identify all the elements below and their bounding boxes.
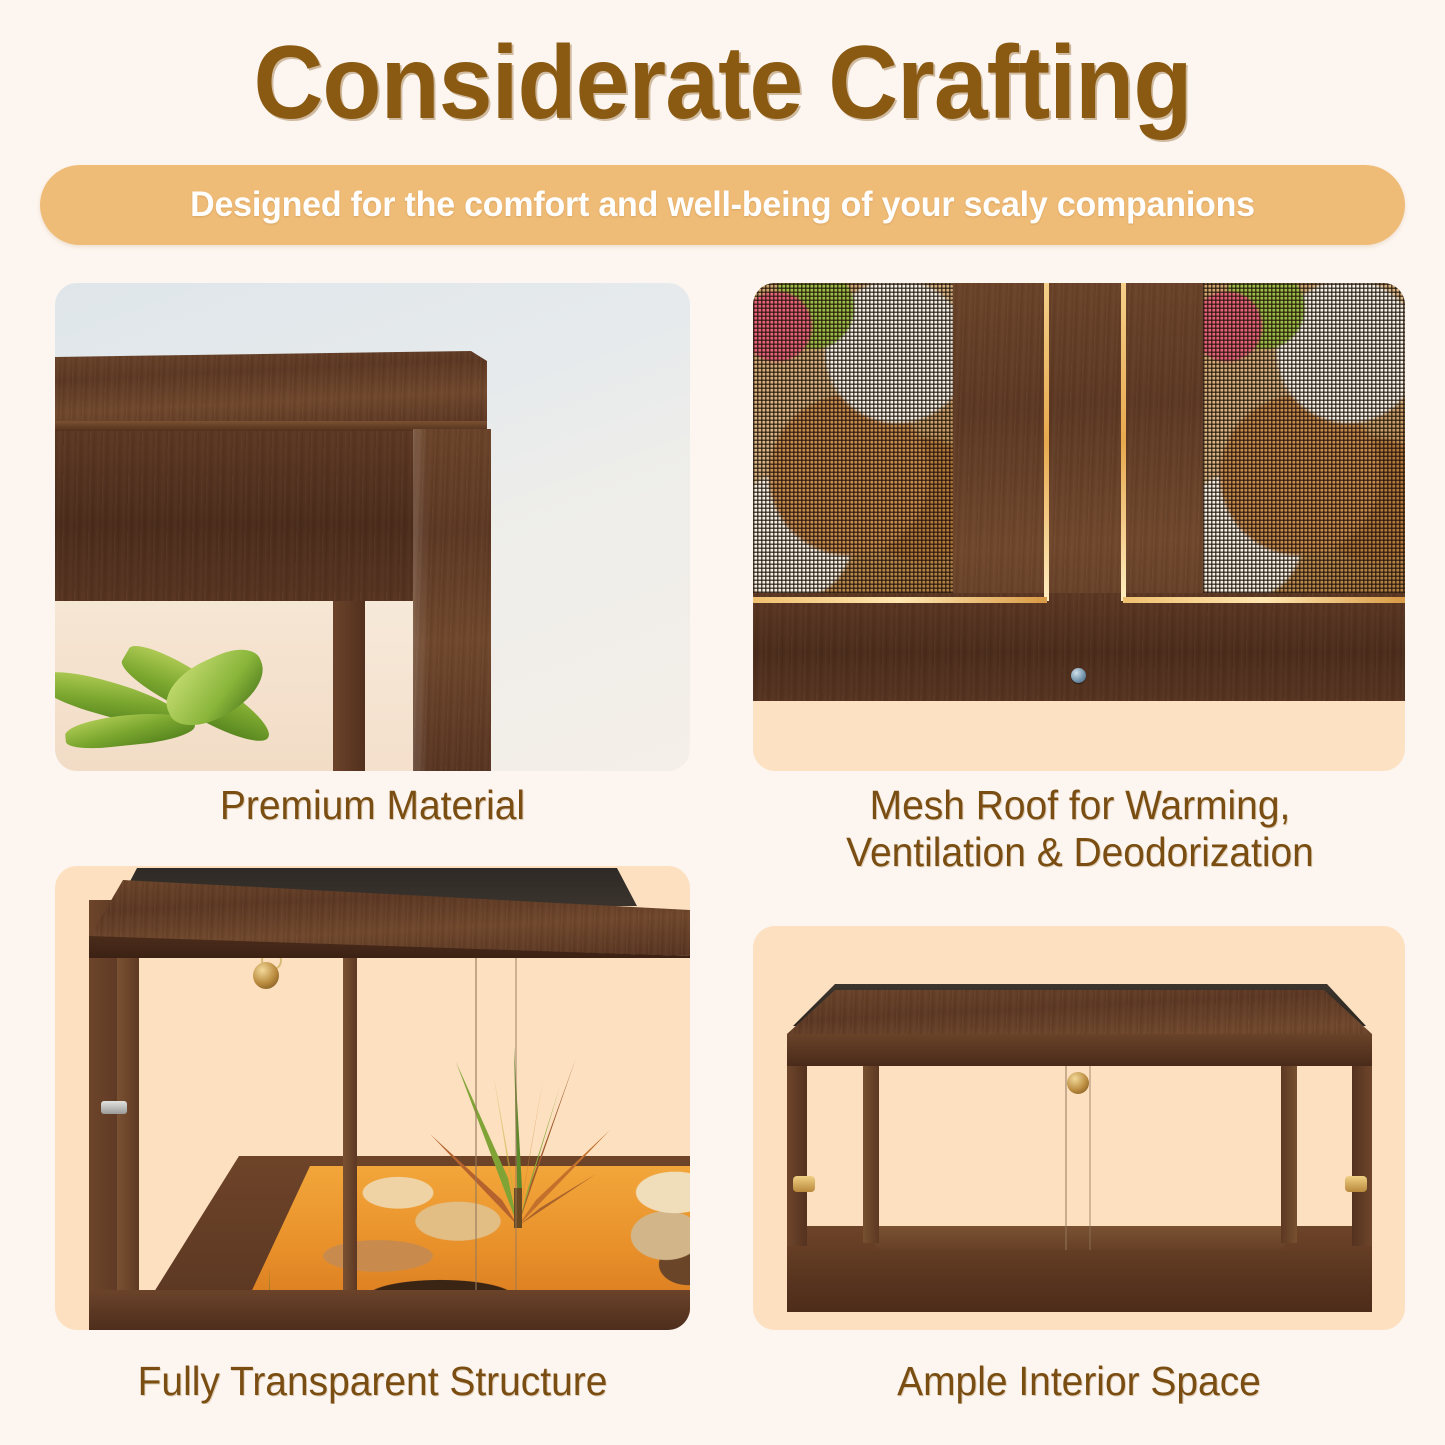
- terrarium-floor-inner: [863, 1226, 1297, 1250]
- glass-door-edge: [475, 944, 477, 1316]
- wood-bottom-rail: [89, 1290, 690, 1330]
- gold-edge-line: [1123, 597, 1405, 603]
- rock-decoration: [620, 1166, 690, 1286]
- caption-premium-material: Premium Material: [71, 782, 674, 829]
- feature-image-ample-interior-space: [753, 926, 1405, 1330]
- wood-right-post: [1352, 1056, 1372, 1246]
- caption-fully-transparent-structure: Fully Transparent Structure: [71, 1358, 674, 1405]
- wood-inner-left-post: [863, 1058, 879, 1243]
- post-highlight: [413, 429, 429, 771]
- gold-edge-line: [1044, 283, 1049, 601]
- brass-lock-icon: [1067, 1072, 1089, 1094]
- mesh-panel-right: [1203, 283, 1405, 593]
- subtitle-pill: Designed for the comfort and well-being …: [40, 165, 1405, 245]
- mesh-panel-left: [753, 283, 953, 593]
- artificial-plant-icon: [410, 1038, 625, 1228]
- screw-icon: [1071, 668, 1086, 683]
- caption-mesh-roof: Mesh Roof for Warming, Ventilation & Deo…: [757, 782, 1403, 876]
- feature-image-mesh-roof: [753, 283, 1405, 771]
- wood-leg: [333, 601, 365, 771]
- feature-image-premium-material: [55, 283, 690, 771]
- mesh-grid-icon: [1203, 283, 1405, 593]
- wood-front-panel: [55, 431, 413, 601]
- wood-middle-post: [343, 926, 357, 1314]
- wood-left-post: [787, 1056, 807, 1246]
- gold-edge-line: [753, 597, 1047, 603]
- caption-ample-interior-space: Ample Interior Space: [769, 1358, 1388, 1405]
- gold-edge-line: [1121, 283, 1126, 601]
- glass-door-edge: [515, 944, 517, 1316]
- wood-cross-bar: [753, 593, 1405, 701]
- page-title: Considerate Crafting: [51, 22, 1395, 144]
- panel-peach-strip: [753, 701, 1405, 771]
- mesh-grid-icon: [753, 283, 953, 593]
- brass-knob-icon-left: [793, 1176, 815, 1192]
- wood-inner-right-post: [1281, 1058, 1297, 1243]
- brass-lock-icon: [253, 962, 279, 989]
- door-hinge-icon: [101, 1101, 127, 1114]
- wood-top-rail-edge: [787, 1034, 1372, 1066]
- glass-gap: [365, 601, 413, 771]
- header-section: Considerate Crafting Designed for the co…: [0, 0, 1445, 258]
- glass-door-edge: [1065, 1060, 1067, 1250]
- mesh-roof-scene: [753, 283, 1405, 701]
- glass-door-edge: [1089, 1060, 1091, 1250]
- brass-knob-icon-right: [1345, 1176, 1367, 1192]
- wood-left-inner-column: [117, 918, 139, 1310]
- subtitle-text: Designed for the comfort and well-being …: [60, 165, 1384, 245]
- wood-top-slab: [55, 351, 487, 429]
- feature-image-fully-transparent-structure: [55, 866, 690, 1330]
